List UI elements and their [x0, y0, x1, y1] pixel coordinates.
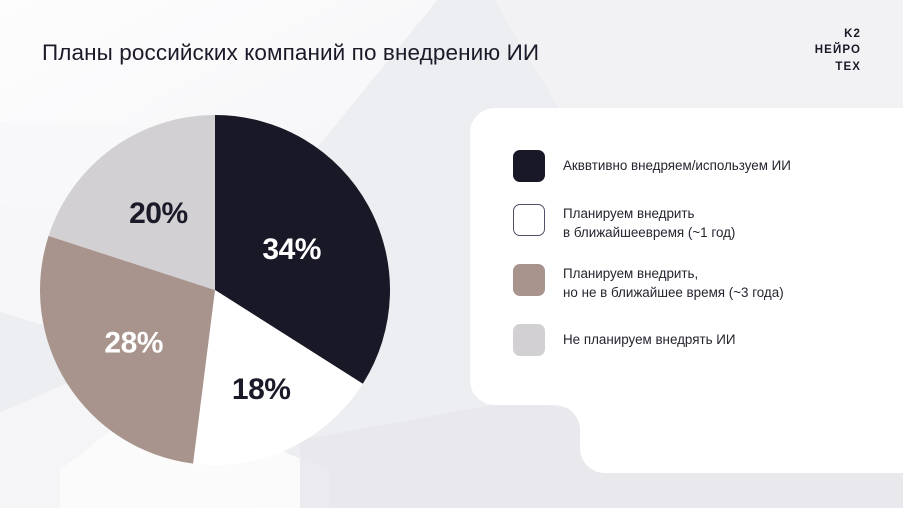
pie-data-label: 18%: [232, 373, 291, 406]
legend-swatch-later: [513, 264, 545, 296]
legend-label-soon: Планируем внедрить в ближайшеевремя (~1 …: [563, 204, 735, 242]
legend-label-later: Планируем внедрить, но не в ближайшее вр…: [563, 264, 784, 302]
legend-label-none: Не планируем внедрять ИИ: [563, 324, 736, 349]
legend-item-soon[interactable]: Планируем внедрить в ближайшеевремя (~1 …: [513, 204, 893, 242]
pie-chart-svg: 34%18%28%20%: [40, 113, 390, 465]
legend-list: Акввтивно внедряем/используем ИИ Планиру…: [513, 150, 893, 356]
pie-data-label: 28%: [104, 327, 163, 360]
legend-label-active: Акввтивно внедряем/используем ИИ: [563, 150, 791, 175]
legend-item-active[interactable]: Акввтивно внедряем/используем ИИ: [513, 150, 893, 182]
pie-slices: [40, 115, 390, 465]
legend-item-none[interactable]: Не планируем внедрять ИИ: [513, 324, 893, 356]
page-title: Планы российских компаний по внедрению И…: [42, 40, 539, 66]
legend-item-later[interactable]: Планируем внедрить, но не в ближайшее вр…: [513, 264, 893, 302]
pie-data-label: 34%: [262, 233, 321, 266]
slide-canvas: Планы российских компаний по внедрению И…: [0, 0, 903, 508]
brand-logo: K2 НЕЙРО ТЕХ: [815, 26, 861, 75]
pie-data-label: 20%: [129, 197, 188, 230]
logo-line-k2: K2: [815, 26, 861, 42]
legend-swatch-none: [513, 324, 545, 356]
legend-swatch-active: [513, 150, 545, 182]
pie-chart: 34%18%28%20%: [40, 113, 390, 465]
legend-swatch-soon: [513, 204, 545, 236]
logo-line-neuro: НЕЙРО: [815, 42, 861, 58]
logo-line-tech: ТЕХ: [815, 59, 861, 75]
